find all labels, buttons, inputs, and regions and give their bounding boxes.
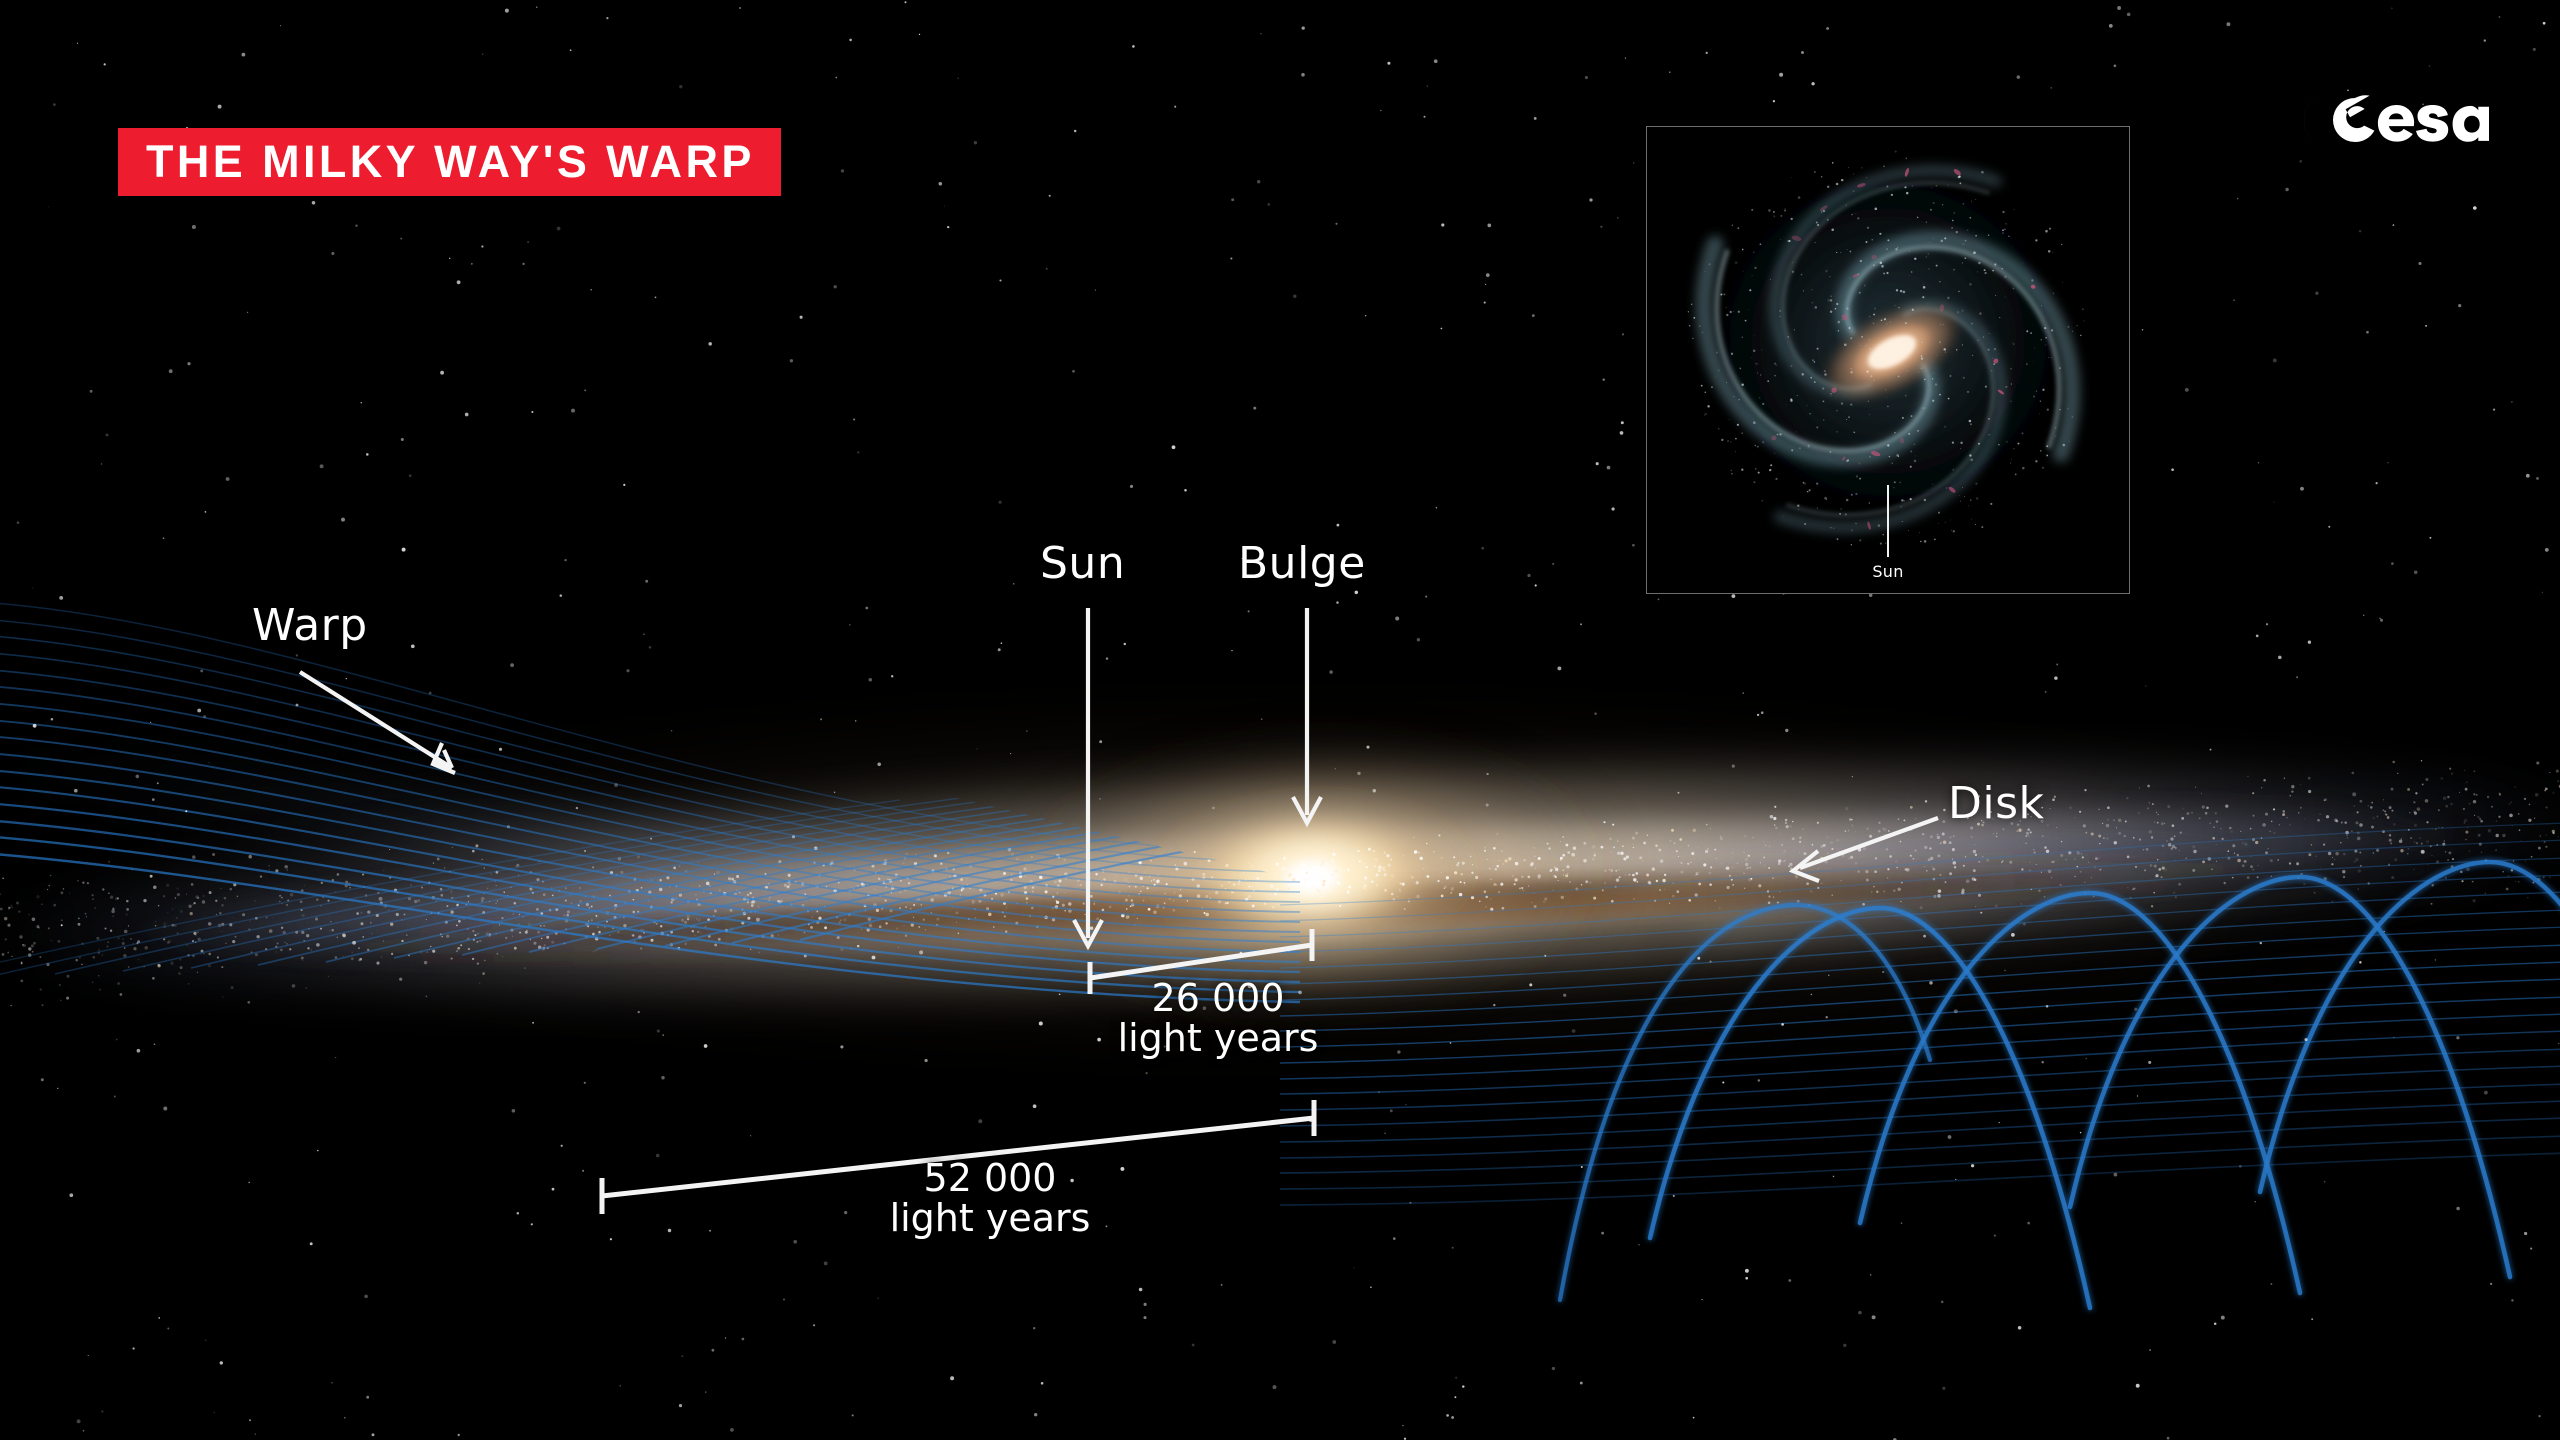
measurement-52000-light-years: 52 000 light years	[840, 1158, 1140, 1239]
label-disk: Disk	[1948, 778, 2045, 829]
infographic-canvas: THE MILKY WAY'S WARP	[0, 0, 2560, 1440]
disk-arrow	[1793, 818, 1938, 881]
esa-logo-icon[interactable]	[2300, 88, 2490, 156]
label-warp: Warp	[252, 600, 368, 651]
label-bulge: Bulge	[1238, 538, 1366, 589]
bulge-arrow	[1293, 608, 1321, 823]
annotation-overlay	[0, 0, 2560, 1440]
label-sun: Sun	[1040, 538, 1125, 589]
measurement-26000-light-years: 26 000 light years	[1088, 978, 1348, 1059]
sun-arrow	[1074, 608, 1102, 946]
warp-arrow	[300, 672, 455, 773]
title-banner: THE MILKY WAY'S WARP	[118, 128, 781, 196]
page-title: THE MILKY WAY'S WARP	[146, 139, 755, 184]
